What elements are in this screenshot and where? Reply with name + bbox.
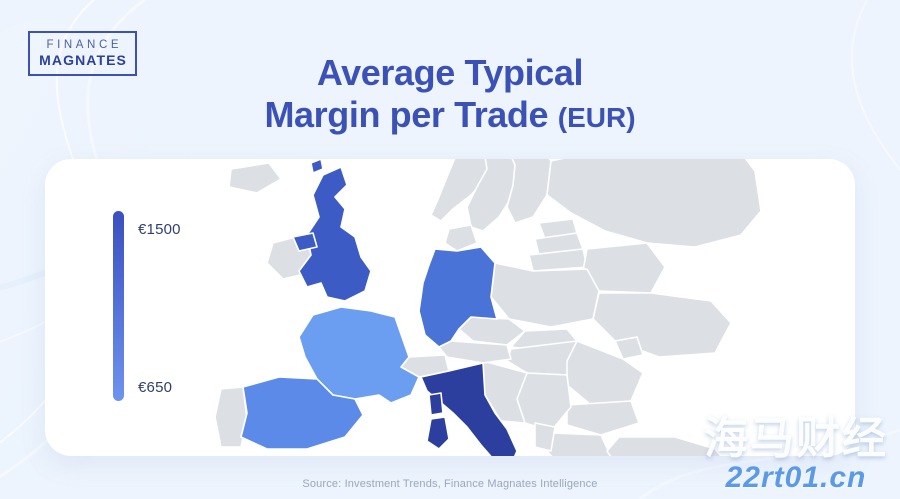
legend-max-label: €1500 [138, 221, 181, 238]
title-line-2: Margin per Trade (EUR) [0, 94, 900, 136]
country-bulgaria [567, 401, 639, 435]
title-line-2-text: Margin per Trade [264, 94, 548, 135]
country-moldova [615, 337, 643, 359]
europe-choropleth-map [195, 159, 855, 456]
logo-line-finance: FINANCE [43, 38, 122, 52]
legend-gradient-bar [113, 211, 124, 401]
page-title: Average Typical Margin per Trade (EUR) [0, 52, 900, 136]
country-russia [547, 159, 761, 247]
map-svg [195, 159, 855, 456]
country-albania [535, 423, 555, 451]
country-turkey [607, 437, 735, 456]
color-legend: €1500 €650 [113, 211, 253, 401]
title-line-1: Average Typical [0, 52, 900, 94]
country-iceland [229, 163, 281, 193]
country-greece [547, 433, 611, 456]
title-currency: (EUR) [558, 102, 636, 133]
country-denmark [445, 225, 477, 251]
country-austria [439, 341, 511, 363]
chart-card: €1500 €650 [45, 159, 855, 456]
country-united-kingdom [293, 159, 371, 301]
country-poland [491, 263, 599, 327]
source-attribution: Source: Investment Trends, Finance Magna… [0, 478, 900, 490]
country-czechia [459, 317, 525, 345]
country-ukraine [593, 293, 731, 357]
infographic-canvas: FINANCE MAGNATES Average Typical Margin … [0, 0, 900, 499]
legend-min-label: €650 [138, 379, 172, 396]
